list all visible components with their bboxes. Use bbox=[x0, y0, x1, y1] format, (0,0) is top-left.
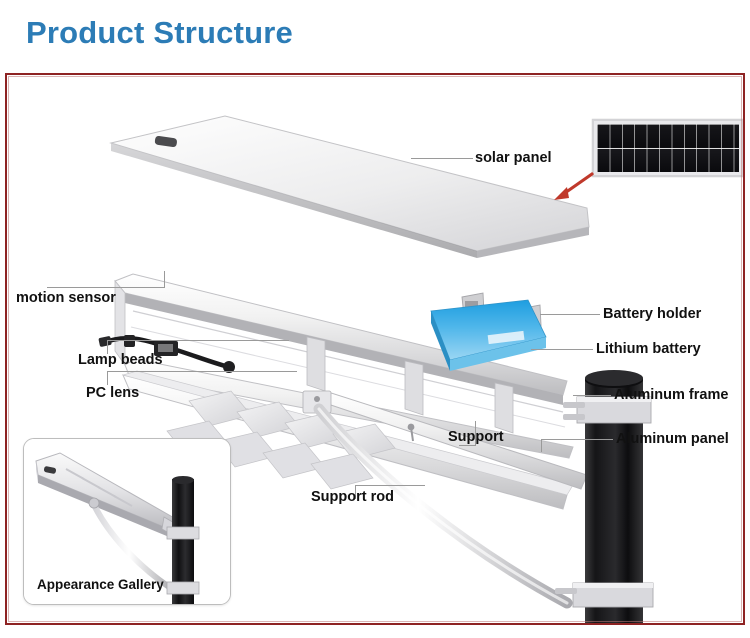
callout-label-lithium-battery: Lithium battery bbox=[596, 342, 701, 357]
inset-appearance-gallery[interactable]: Appearance Gallery bbox=[23, 438, 231, 605]
callout-label-aluminum-panel: Aluminum panel bbox=[616, 432, 729, 447]
diagram-stage: solar panel Battery holder Lithium batte… bbox=[7, 75, 743, 623]
callout-label-pc-lens: PC lens bbox=[86, 386, 139, 401]
appearance-gallery-caption: Appearance Gallery bbox=[37, 577, 164, 592]
diagram-frame: solar panel Battery holder Lithium batte… bbox=[5, 73, 745, 625]
callout-label-support: Support bbox=[448, 430, 504, 445]
leader-lamp-beads bbox=[107, 340, 289, 341]
part-lithium-battery bbox=[431, 300, 546, 371]
callout-label-lamp-beads: Lamp beads bbox=[78, 353, 163, 368]
leader-pc-lens-riser bbox=[107, 371, 108, 385]
callout-label-support-rod: Support rod bbox=[311, 490, 394, 505]
leader-solar-panel bbox=[411, 158, 473, 159]
leader-aluminum-panel-drop bbox=[541, 439, 542, 452]
callout-label-solar-panel: solar panel bbox=[475, 151, 552, 166]
solar-cell-grid bbox=[597, 124, 739, 172]
solar-panel-arrow-icon bbox=[550, 171, 596, 201]
callout-label-battery-holder: Battery holder bbox=[603, 307, 701, 322]
leader-motion-sensor-riser bbox=[164, 271, 165, 288]
product-structure-page: Product Structure bbox=[0, 0, 750, 638]
page-title: Product Structure bbox=[26, 16, 293, 50]
callout-label-motion-sensor: motion sensor bbox=[16, 291, 116, 306]
callout-label-aluminum-frame: Aluminum frame bbox=[614, 388, 728, 403]
part-solar-panel bbox=[111, 116, 589, 258]
leader-pc-lens bbox=[107, 371, 297, 372]
leader-lithium-battery bbox=[531, 349, 593, 350]
leader-aluminum-frame bbox=[573, 395, 611, 396]
inset-solar-panel-photo bbox=[592, 119, 744, 177]
leader-motion-sensor bbox=[47, 287, 165, 288]
leader-aluminum-panel bbox=[541, 439, 613, 440]
leader-support-rod bbox=[355, 485, 425, 486]
part-pole bbox=[555, 370, 653, 623]
leader-support-foot bbox=[459, 445, 476, 446]
leader-battery-holder bbox=[540, 314, 600, 315]
